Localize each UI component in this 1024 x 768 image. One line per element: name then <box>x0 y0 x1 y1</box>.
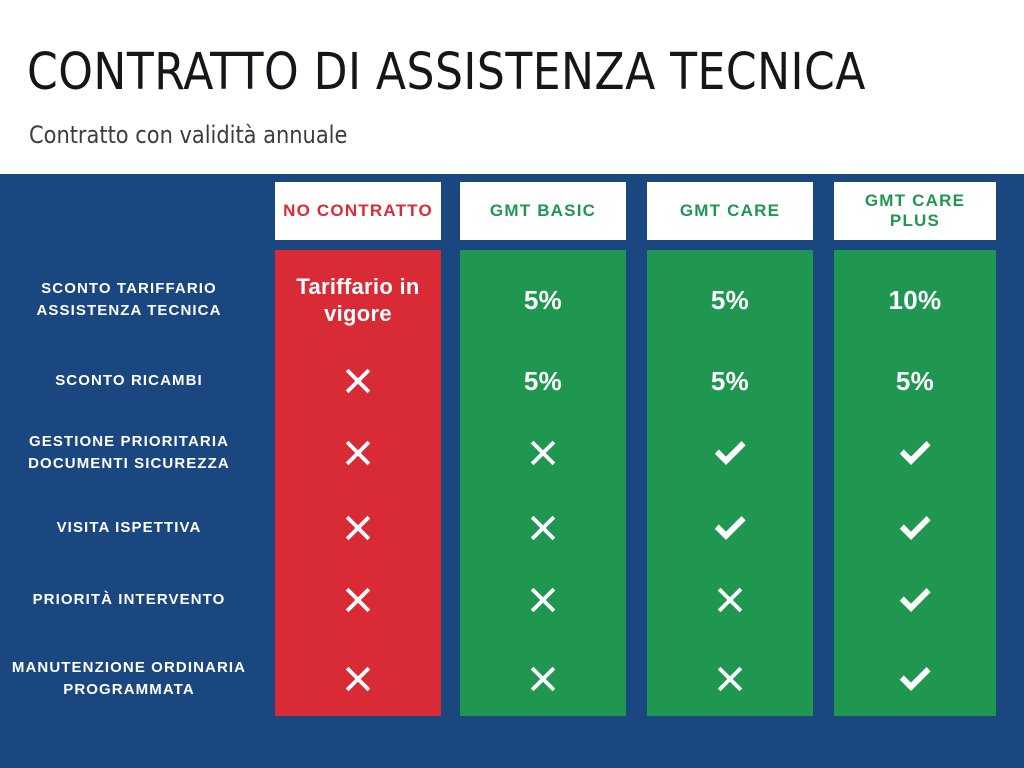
cross-icon <box>713 583 747 617</box>
check-icon <box>895 580 935 620</box>
check-icon <box>895 508 935 548</box>
cell-cross <box>460 636 626 722</box>
cell-value: 5% <box>460 348 626 414</box>
table-row: SCONTO TARIFFARIO ASSISTENZA TECNICATari… <box>0 252 1024 348</box>
cell-check <box>834 564 996 636</box>
cell-value-text: 5% <box>711 285 749 315</box>
cross-icon <box>526 583 560 617</box>
cell-check <box>834 636 996 722</box>
column-header-no-contratto[interactable]: NO CONTRATTO <box>275 182 441 240</box>
page-subtitle: Contratto con validità annuale <box>29 120 347 150</box>
table-row: SCONTO RICAMBI5%5%5% <box>0 348 1024 414</box>
cross-icon <box>341 436 375 470</box>
row-label: VISITA ISPETTIVA <box>0 517 258 539</box>
cross-icon <box>341 583 375 617</box>
cell-value: 10% <box>834 252 996 348</box>
cell-value: 5% <box>834 348 996 414</box>
cell-value: Tariffario in vigore <box>275 252 441 348</box>
cross-icon <box>526 511 560 545</box>
column-header-gmt-basic[interactable]: GMT BASIC <box>460 182 626 240</box>
cell-cross <box>460 564 626 636</box>
cross-icon <box>341 511 375 545</box>
check-icon <box>710 433 750 473</box>
cell-value: 5% <box>460 252 626 348</box>
column-header-label: GMT CARE <box>680 201 780 221</box>
row-label: GESTIONE PRIORITARIA DOCUMENTI SICUREZZA <box>0 431 258 475</box>
cell-cross <box>275 564 441 636</box>
check-icon <box>895 433 935 473</box>
cell-cross <box>647 564 813 636</box>
column-header-gmt-care-plus[interactable]: GMT CARE PLUS <box>834 182 996 240</box>
row-label: SCONTO TARIFFARIO ASSISTENZA TECNICA <box>0 278 258 322</box>
cross-icon <box>341 662 375 696</box>
check-icon <box>710 508 750 548</box>
column-header-label: GMT BASIC <box>490 201 596 221</box>
cell-cross <box>460 414 626 492</box>
table-row: VISITA ISPETTIVA <box>0 492 1024 564</box>
comparison-table-page: CONTRATTO DI ASSISTENZA TECNICA Contratt… <box>0 0 1024 768</box>
cell-cross <box>460 492 626 564</box>
cell-value-text: 5% <box>711 366 749 396</box>
cell-value-text: 5% <box>524 366 562 396</box>
cross-icon <box>526 436 560 470</box>
cell-value-text: 10% <box>889 285 942 315</box>
cross-icon <box>713 662 747 696</box>
cell-value-text: 5% <box>524 285 562 315</box>
cell-check <box>647 414 813 492</box>
page-title: CONTRATTO DI ASSISTENZA TECNICA <box>27 44 866 102</box>
table-row: MANUTENZIONE ORDINARIA PROGRAMMATA <box>0 636 1024 722</box>
cell-value-text: 5% <box>896 366 934 396</box>
header-band: CONTRATTO DI ASSISTENZA TECNICA Contratt… <box>0 0 1024 174</box>
cell-check <box>834 492 996 564</box>
cell-cross <box>275 636 441 722</box>
cross-icon <box>341 364 375 398</box>
table-row: GESTIONE PRIORITARIA DOCUMENTI SICUREZZA <box>0 414 1024 492</box>
cell-value-text: Tariffario in vigore <box>275 273 441 327</box>
cell-cross <box>275 414 441 492</box>
plan-comparison-table: NO CONTRATTO GMT BASIC GMT CARE GMT CARE… <box>0 174 1024 768</box>
cross-icon <box>526 662 560 696</box>
check-icon <box>895 659 935 699</box>
cell-cross <box>647 636 813 722</box>
cell-cross <box>275 492 441 564</box>
cell-check <box>834 414 996 492</box>
column-header-gmt-care[interactable]: GMT CARE <box>647 182 813 240</box>
row-label: MANUTENZIONE ORDINARIA PROGRAMMATA <box>0 657 258 701</box>
cell-value: 5% <box>647 348 813 414</box>
column-header-label: NO CONTRATTO <box>283 201 433 221</box>
row-label: SCONTO RICAMBI <box>0 370 258 392</box>
table-row: PRIORITÀ INTERVENTO <box>0 564 1024 636</box>
row-label: PRIORITÀ INTERVENTO <box>0 589 258 611</box>
column-header-label: GMT CARE PLUS <box>838 191 992 231</box>
cell-check <box>647 492 813 564</box>
cell-cross <box>275 348 441 414</box>
cell-value: 5% <box>647 252 813 348</box>
